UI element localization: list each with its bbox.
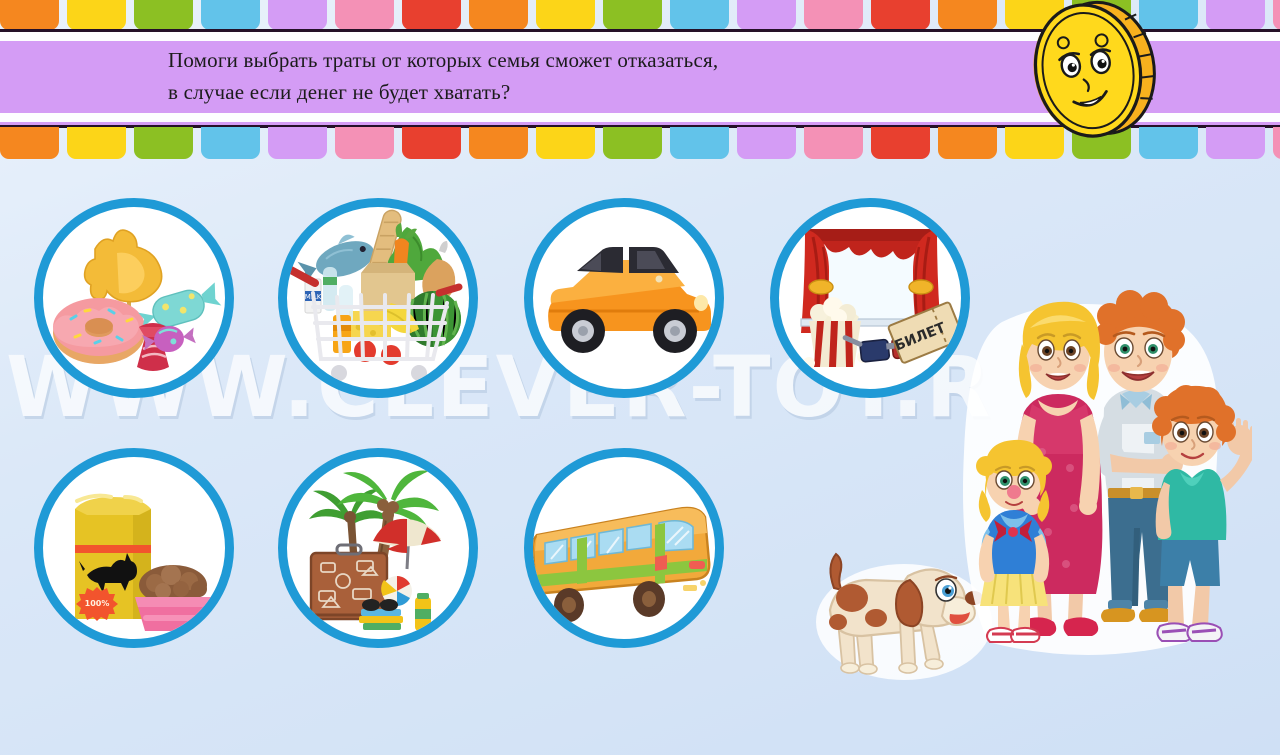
decor-tile (1206, 0, 1265, 30)
decor-tile (737, 127, 796, 159)
choice-circle-car[interactable] (524, 198, 724, 398)
choice-circle-groceries[interactable]: MILK (278, 198, 478, 398)
decor-tile (871, 0, 930, 30)
shopping-cart-icon: MILK (287, 207, 469, 389)
car-icon (533, 207, 715, 389)
choice-circle-vacation[interactable] (278, 448, 478, 648)
family-illustration (962, 282, 1252, 682)
decor-tile (871, 127, 930, 159)
decor-tile (938, 127, 997, 159)
decor-tile (201, 0, 260, 30)
title-line-1: Помоги выбрать траты от которых семья см… (168, 48, 718, 72)
choice-circle-sweets[interactable] (34, 198, 234, 398)
decor-tile (0, 0, 59, 30)
decor-tile (1273, 127, 1280, 159)
coin-mascot-icon (1006, 0, 1176, 146)
decor-tile (134, 127, 193, 159)
choice-circle-bus[interactable] (524, 448, 724, 648)
bus-icon (533, 457, 715, 639)
decor-tile (536, 0, 595, 30)
decor-tile (67, 0, 126, 30)
decor-tile (335, 0, 394, 30)
decor-tile (804, 127, 863, 159)
pet-food-icon: 100% (43, 457, 225, 639)
pet-food-badge: 100% (85, 599, 110, 608)
decor-tile (603, 127, 662, 159)
vacation-icon (287, 457, 469, 639)
choice-circle-cinema[interactable]: БИЛЕТ (770, 198, 970, 398)
decor-tile (402, 0, 461, 30)
decor-tile (1206, 127, 1265, 159)
cinema-icon: БИЛЕТ (779, 207, 961, 389)
decor-tile (134, 0, 193, 30)
decor-tile (402, 127, 461, 159)
page-title: Помоги выбрать траты от которых семья см… (168, 44, 968, 108)
decor-tile (1273, 0, 1280, 30)
decor-tile (670, 127, 729, 159)
decor-tile (201, 127, 260, 159)
decor-tile (268, 127, 327, 159)
decor-tile (268, 0, 327, 30)
decor-tile (0, 127, 59, 159)
header-banner: Помоги выбрать траты от которых семья см… (0, 0, 1280, 140)
decor-tile (603, 0, 662, 30)
decor-tile (670, 0, 729, 30)
decor-tile (737, 0, 796, 30)
choice-circle-pet-food[interactable]: 100% (34, 448, 234, 648)
decor-tile (804, 0, 863, 30)
decor-tile (536, 127, 595, 159)
decor-tile (938, 0, 997, 30)
decor-tile (335, 127, 394, 159)
decor-tile (469, 0, 528, 30)
decor-tile (67, 127, 126, 159)
decor-tile (469, 127, 528, 159)
candy-icon (43, 207, 225, 389)
title-line-2: в случае если денег не будет хватать? (168, 76, 968, 108)
